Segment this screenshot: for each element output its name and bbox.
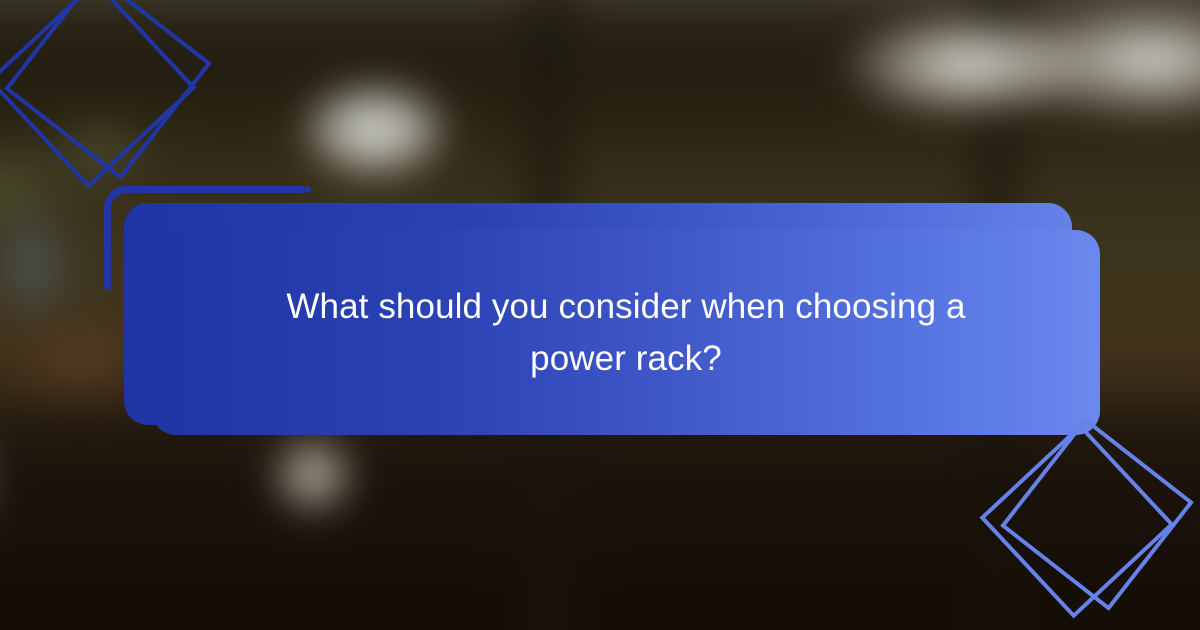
page-title: What should you consider when choosing a… — [246, 281, 1006, 385]
banner-stage: What should you consider when choosing a… — [0, 0, 1200, 630]
headline-container: What should you consider when choosing a… — [152, 230, 1100, 435]
